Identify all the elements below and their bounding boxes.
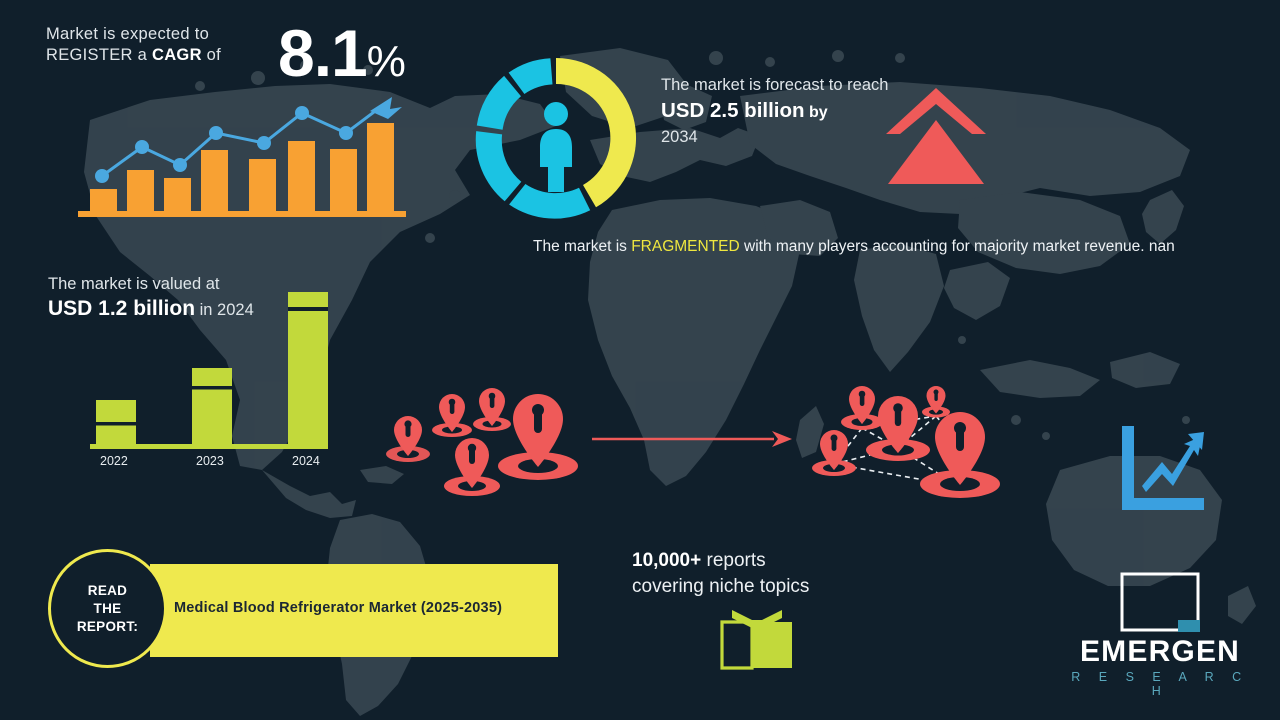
fragmentation-block: The market is FRAGMENTED with many playe…: [533, 236, 1213, 258]
read-the-report-label: READ THE REPORT:: [77, 582, 138, 636]
read-report-banner[interactable]: Medical Blood Refrigerator Market (2025-…: [150, 564, 558, 657]
market-share-donut-chart: [470, 52, 642, 224]
cagr-unit: %: [367, 37, 405, 86]
forecast-value: USD 2.5 billion by: [661, 98, 901, 126]
emergen-square-logo-icon: [1120, 572, 1200, 634]
forecast-amount: USD 2.5 billion: [661, 99, 805, 122]
line-chart-growth-icon: [1118, 424, 1208, 512]
map-pins-scattered-icon: [382, 382, 612, 507]
forecast-lead: The market is forecast to reach: [661, 74, 901, 96]
green-chart-xlabel-2: 2024: [292, 454, 320, 468]
open-book-icon: [718, 608, 796, 670]
bar-2023: [192, 368, 232, 446]
fragmentation-text: The market is FRAGMENTED with many playe…: [533, 236, 1213, 258]
cagr-label: Market is expected to REGISTER a CAGR of: [46, 24, 241, 66]
report-title: Medical Blood Refrigerator Market (2025-…: [174, 600, 502, 616]
forecast-block: The market is forecast to reach USD 2.5 …: [661, 74, 901, 148]
chart-baseline: [78, 211, 406, 217]
emergen-research-logo: EMERGEN R E S E A R C H: [1060, 572, 1260, 692]
person-icon: [540, 102, 572, 192]
logo-subtitle: R E S E A R C H: [1060, 670, 1260, 698]
cagr-block: Market is expected to REGISTER a CAGR of…: [46, 24, 446, 66]
bar-2024: [288, 292, 328, 447]
frag-highlight: FRAGMENTED: [631, 238, 740, 255]
forecast-by: by: [805, 104, 828, 121]
cagr-line2-pre: REGISTER a: [46, 46, 152, 64]
green-chart-xlabel-0: 2022: [100, 454, 128, 468]
frag-pre: The market is: [533, 238, 631, 255]
bar-2022: [96, 400, 136, 446]
cta-line1: READ: [88, 583, 127, 598]
donut-segment-3: [476, 131, 522, 201]
forecast-year: 2034: [661, 126, 901, 148]
cta-line2: THE: [94, 601, 122, 616]
reports-count: 10,000+: [632, 550, 701, 571]
cta-line3: REPORT:: [77, 619, 138, 634]
donut-segment-5: [509, 58, 553, 94]
cagr-line2-post: of: [202, 46, 221, 64]
map-pins-network-icon: [800, 382, 1020, 507]
growth-trend-chart: [70, 85, 415, 225]
read-the-report-button[interactable]: READ THE REPORT:: [48, 549, 167, 668]
logo-wordmark: EMERGEN: [1060, 635, 1260, 669]
reports-line1-rest: reports: [701, 550, 765, 571]
donut-segment-4: [477, 76, 521, 130]
cagr-value: 8.1%: [278, 20, 405, 95]
cagr-line1: Market is expected to: [46, 25, 209, 43]
market-value-bar-chart: [80, 292, 340, 472]
frag-post: with many players accounting for majorit…: [740, 238, 1175, 255]
cagr-number: 8.1: [278, 16, 367, 90]
reports-line2: covering niche topics: [632, 576, 809, 597]
green-chart-xlabel-1: 2023: [196, 454, 224, 468]
trend-arrow-icon: [370, 97, 402, 119]
infographic-canvas: Market is expected to REGISTER a CAGR of…: [0, 0, 1280, 720]
reports-count-block: 10,000+ reportscovering niche topics: [632, 548, 892, 600]
donut-segment-leader: [556, 58, 636, 207]
cagr-line2-bold: CAGR: [152, 46, 202, 64]
double-up-chevron-icon: [884, 86, 988, 188]
right-arrow-icon: [592, 428, 794, 450]
reports-text: 10,000+ reportscovering niche topics: [632, 548, 892, 600]
